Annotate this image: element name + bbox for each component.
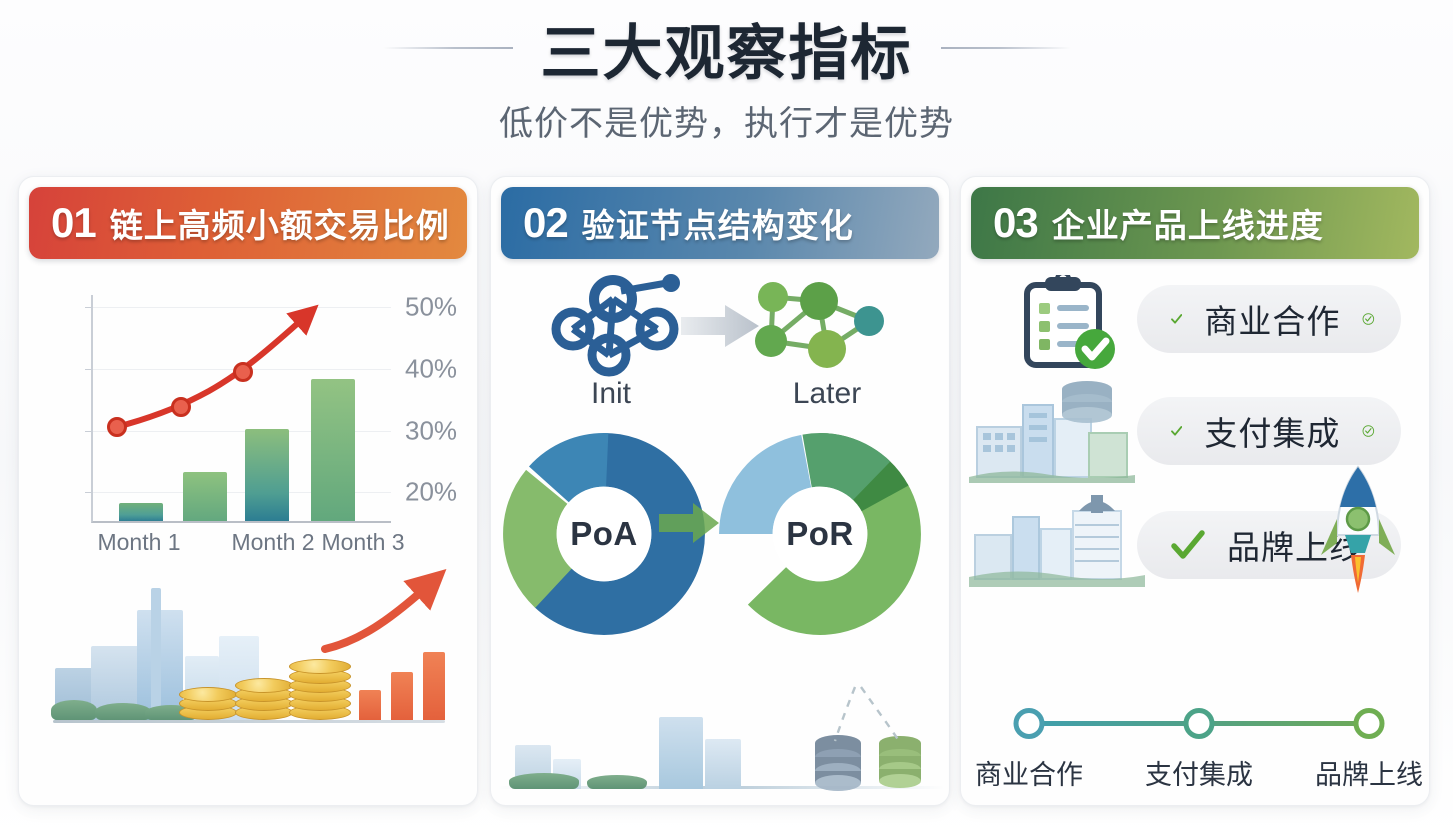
city-icon [659, 717, 703, 789]
dashed-connector [783, 685, 943, 749]
check-badge-icon [1362, 412, 1375, 450]
network-later-label: Later [793, 377, 861, 411]
shrub-icon [95, 703, 151, 720]
card-1-body: 50%40%30%20% Month 1Month 2Month 3 [19, 269, 477, 805]
shrub-icon [587, 775, 647, 789]
clipboard-icon [1019, 275, 1125, 371]
growth-arrow-icon [319, 569, 459, 679]
coin-stack [235, 664, 293, 720]
checklist-row-3: 品牌上线 [961, 501, 1429, 577]
infographic-root: 三大观察指标 低价不是优势，执行才是优势 01 链上高频小额交易比例 50%40… [0, 0, 1453, 840]
network-later-icon [747, 275, 897, 375]
growth-bar [359, 690, 381, 720]
growth-bar [391, 672, 413, 720]
arrow-right-green-icon [657, 499, 723, 547]
card-3-title: 企业产品上线进度 [1052, 199, 1324, 247]
card-1-number: 01 [51, 199, 96, 247]
city-icon [705, 739, 741, 789]
consensus-donuts: PoA PoR [491, 431, 949, 641]
title-rule-left [383, 47, 513, 49]
rocket-icon [1313, 463, 1403, 613]
card-1-title: 链上高频小额交易比例 [110, 199, 450, 247]
checklist-pill-1[interactable]: 商业合作 [1137, 285, 1401, 353]
checklist-row-1: 商业合作 [961, 275, 1429, 351]
card-product-launch-progress[interactable]: 03 企业产品上线进度 [960, 176, 1430, 806]
card-2-header: 02 验证节点结构变化 [501, 187, 939, 259]
timeline-label-2: 支付集成 [1145, 753, 1253, 792]
timeline-node-2[interactable] [1184, 708, 1215, 739]
donut-poa-label: PoA [570, 515, 638, 553]
checklist-pill-2[interactable]: 支付集成 [1137, 397, 1401, 465]
donut-por-label: PoR [786, 515, 854, 553]
network-transition: Init Later [491, 269, 949, 429]
card-chain-tx-ratio[interactable]: 01 链上高频小额交易比例 50%40%30%20% Month 1Month … [18, 176, 478, 806]
title-row: 三大观察指标 [0, 8, 1453, 88]
timeline-node-3[interactable] [1354, 708, 1385, 739]
network-init-label: Init [591, 377, 631, 411]
cards-container: 01 链上高频小额交易比例 50%40%30%20% Month 1Month … [0, 176, 1453, 816]
timeline-node-1[interactable] [1014, 708, 1045, 739]
card-2-body: Init Later PoA [491, 269, 949, 805]
page-header: 三大观察指标 低价不是优势，执行才是优势 [0, 0, 1453, 165]
card-3-body: 商业合作 [961, 269, 1429, 805]
card-2-title: 验证节点结构变化 [582, 199, 854, 247]
page-title: 三大观察指标 [541, 5, 913, 92]
check-icon [1171, 416, 1182, 446]
card-validator-structure[interactable]: 02 验证节点结构变化 [490, 176, 950, 806]
checklist-row-2: 支付集成 [961, 387, 1429, 463]
launch-timeline: 商业合作 支付集成 品牌上线 [983, 691, 1409, 791]
checklist-label-1: 商业合作 [1204, 295, 1340, 343]
city-icon [967, 371, 1137, 487]
card-3-number: 03 [993, 199, 1038, 247]
check-icon [1171, 304, 1182, 334]
city-icon [151, 588, 161, 720]
trend-line-overlay [91, 295, 421, 535]
city-database-illustration [491, 685, 949, 805]
coin-stack [179, 682, 237, 720]
card-1-header: 01 链上高频小额交易比例 [29, 187, 467, 259]
network-init-icon [539, 273, 699, 377]
city-icon [743, 755, 773, 789]
ground-line [53, 720, 445, 723]
bar-chart: 50%40%30%20% Month 1Month 2Month 3 [33, 277, 465, 577]
coins-growth-illustration [33, 569, 465, 797]
title-rule-right [941, 47, 1071, 49]
shrub-icon [509, 773, 579, 789]
check-icon [1171, 530, 1205, 560]
timeline-label-1: 商业合作 [975, 753, 1083, 792]
card-3-header: 03 企业产品上线进度 [971, 187, 1419, 259]
timeline-label-3: 品牌上线 [1315, 753, 1423, 792]
page-subtitle: 低价不是优势，执行才是优势 [0, 96, 1453, 145]
city-icon [967, 477, 1147, 593]
check-badge-icon [1362, 300, 1375, 338]
checklist-label-2: 支付集成 [1204, 407, 1340, 455]
card-2-number: 02 [523, 199, 568, 247]
shrub-icon [51, 700, 97, 720]
